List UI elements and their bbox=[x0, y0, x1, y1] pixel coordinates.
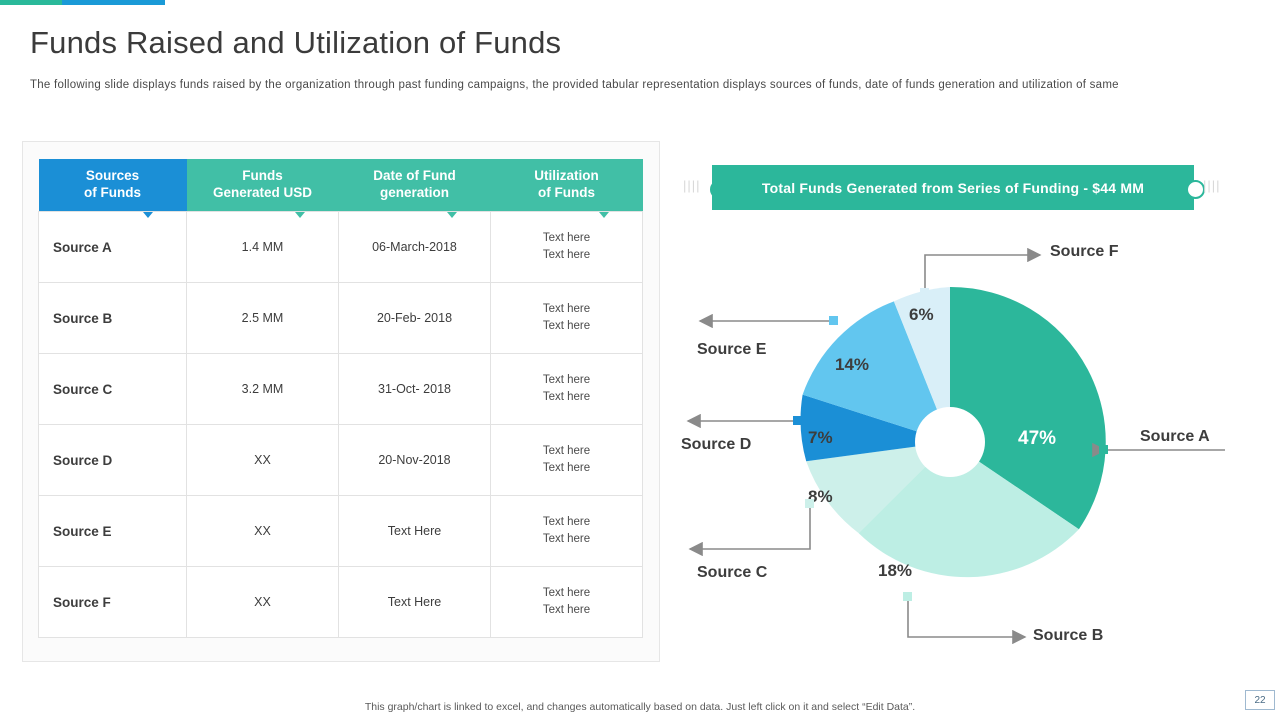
table-row: Source F XX Text Here Text here Text her… bbox=[39, 567, 643, 638]
header-line2: of Funds bbox=[491, 185, 643, 202]
cell-date: Text Here bbox=[339, 567, 491, 638]
table-header-date: Date of Fund generation bbox=[339, 159, 491, 212]
chevron-down-icon bbox=[599, 212, 609, 218]
util-line2: Text here bbox=[492, 460, 641, 477]
util-line2: Text here bbox=[492, 247, 641, 264]
header-line1: Date of Fund bbox=[339, 168, 491, 185]
cell-source: Source F bbox=[39, 567, 187, 638]
callout-source-b: Source B bbox=[1033, 627, 1103, 645]
page-title: Funds Raised and Utilization of Funds bbox=[30, 25, 561, 61]
util-line1: Text here bbox=[492, 372, 641, 389]
cell-utilization: Text here Text here bbox=[491, 354, 643, 425]
header-line1: Sources bbox=[39, 168, 187, 185]
connector-square-source-d bbox=[793, 416, 802, 425]
table-header-funds: Funds Generated USD bbox=[187, 159, 339, 212]
banner-ticks-right: |||| bbox=[1203, 178, 1221, 193]
util-line2: Text here bbox=[492, 602, 641, 619]
top-accent-bar bbox=[0, 0, 165, 5]
table-row: Source E XX Text Here Text here Text her… bbox=[39, 496, 643, 567]
table-header-sources: Sources of Funds bbox=[39, 159, 187, 212]
leader-source-f bbox=[925, 255, 1040, 293]
accent-segment-blue bbox=[62, 0, 165, 5]
pie-slice-source-a bbox=[950, 287, 1106, 529]
header-line2: generation bbox=[339, 185, 491, 202]
pie-label-source-b: 18% bbox=[878, 561, 912, 581]
callout-source-e: Source E bbox=[697, 341, 766, 359]
page-number: 22 bbox=[1245, 690, 1275, 710]
footer-note: This graph/chart is linked to excel, and… bbox=[0, 701, 1280, 713]
pie-label-source-d: 7% bbox=[808, 428, 833, 448]
chevron-down-icon bbox=[447, 212, 457, 218]
chevron-down-icon bbox=[295, 212, 305, 218]
connector-square-source-b bbox=[903, 592, 912, 601]
cell-source: Source D bbox=[39, 425, 187, 496]
util-line1: Text here bbox=[492, 443, 641, 460]
connector-square-source-a bbox=[1099, 445, 1108, 454]
cell-funds: 2.5 MM bbox=[187, 283, 339, 354]
cell-utilization: Text here Text here bbox=[491, 425, 643, 496]
table-header-utilization: Utilization of Funds bbox=[491, 159, 643, 212]
header-line1: Utilization bbox=[491, 168, 643, 185]
util-line2: Text here bbox=[492, 318, 641, 335]
pie-center-hole bbox=[915, 407, 985, 477]
table-header-row: Sources of Funds Funds Generated USD Dat… bbox=[39, 159, 643, 212]
util-line2: Text here bbox=[492, 531, 641, 548]
connector-square-source-e bbox=[829, 316, 838, 325]
banner-ticks-left: |||| bbox=[683, 178, 701, 193]
util-line1: Text here bbox=[492, 514, 641, 531]
pie-label-source-a: 47% bbox=[1018, 428, 1056, 450]
page-subtitle: The following slide displays funds raise… bbox=[30, 79, 1230, 91]
cell-utilization: Text here Text here bbox=[491, 283, 643, 354]
total-funds-banner: Total Funds Generated from Series of Fun… bbox=[712, 165, 1194, 210]
cell-source: Source C bbox=[39, 354, 187, 425]
cell-utilization: Text here Text here bbox=[491, 567, 643, 638]
pie-label-source-f: 6% bbox=[909, 305, 934, 325]
cell-source: Source E bbox=[39, 496, 187, 567]
util-line1: Text here bbox=[492, 230, 641, 247]
util-line1: Text here bbox=[492, 585, 641, 602]
cell-utilization: Text here Text here bbox=[491, 496, 643, 567]
cell-date: 20-Nov-2018 bbox=[339, 425, 491, 496]
leader-source-c bbox=[690, 504, 810, 549]
accent-segment-green bbox=[0, 0, 62, 5]
funds-table: Sources of Funds Funds Generated USD Dat… bbox=[38, 159, 643, 638]
header-line1: Funds bbox=[187, 168, 339, 185]
callout-source-d: Source D bbox=[681, 436, 751, 454]
header-arrows bbox=[38, 212, 642, 224]
pie-label-source-e: 14% bbox=[835, 355, 869, 375]
cell-date: 31-Oct- 2018 bbox=[339, 354, 491, 425]
table-row: Source B 2.5 MM 20-Feb- 2018 Text here T… bbox=[39, 283, 643, 354]
table-row: Source D XX 20-Nov-2018 Text here Text h… bbox=[39, 425, 643, 496]
callout-source-a: Source A bbox=[1140, 428, 1210, 446]
header-line2: of Funds bbox=[39, 185, 187, 202]
connector-square-source-f bbox=[920, 288, 929, 297]
cell-source: Source B bbox=[39, 283, 187, 354]
cell-funds: XX bbox=[187, 496, 339, 567]
table-row: Source C 3.2 MM 31-Oct- 2018 Text here T… bbox=[39, 354, 643, 425]
cell-date: Text Here bbox=[339, 496, 491, 567]
leader-source-b bbox=[908, 597, 1025, 637]
connector-square-source-c bbox=[805, 499, 814, 508]
util-line1: Text here bbox=[492, 301, 641, 318]
cell-funds: 3.2 MM bbox=[187, 354, 339, 425]
chevron-down-icon bbox=[143, 212, 153, 218]
cell-date: 20-Feb- 2018 bbox=[339, 283, 491, 354]
cell-funds: XX bbox=[187, 567, 339, 638]
callout-source-c: Source C bbox=[697, 564, 767, 582]
callout-source-f: Source F bbox=[1050, 243, 1118, 261]
header-line2: Generated USD bbox=[187, 185, 339, 202]
cell-funds: XX bbox=[187, 425, 339, 496]
util-line2: Text here bbox=[492, 389, 641, 406]
